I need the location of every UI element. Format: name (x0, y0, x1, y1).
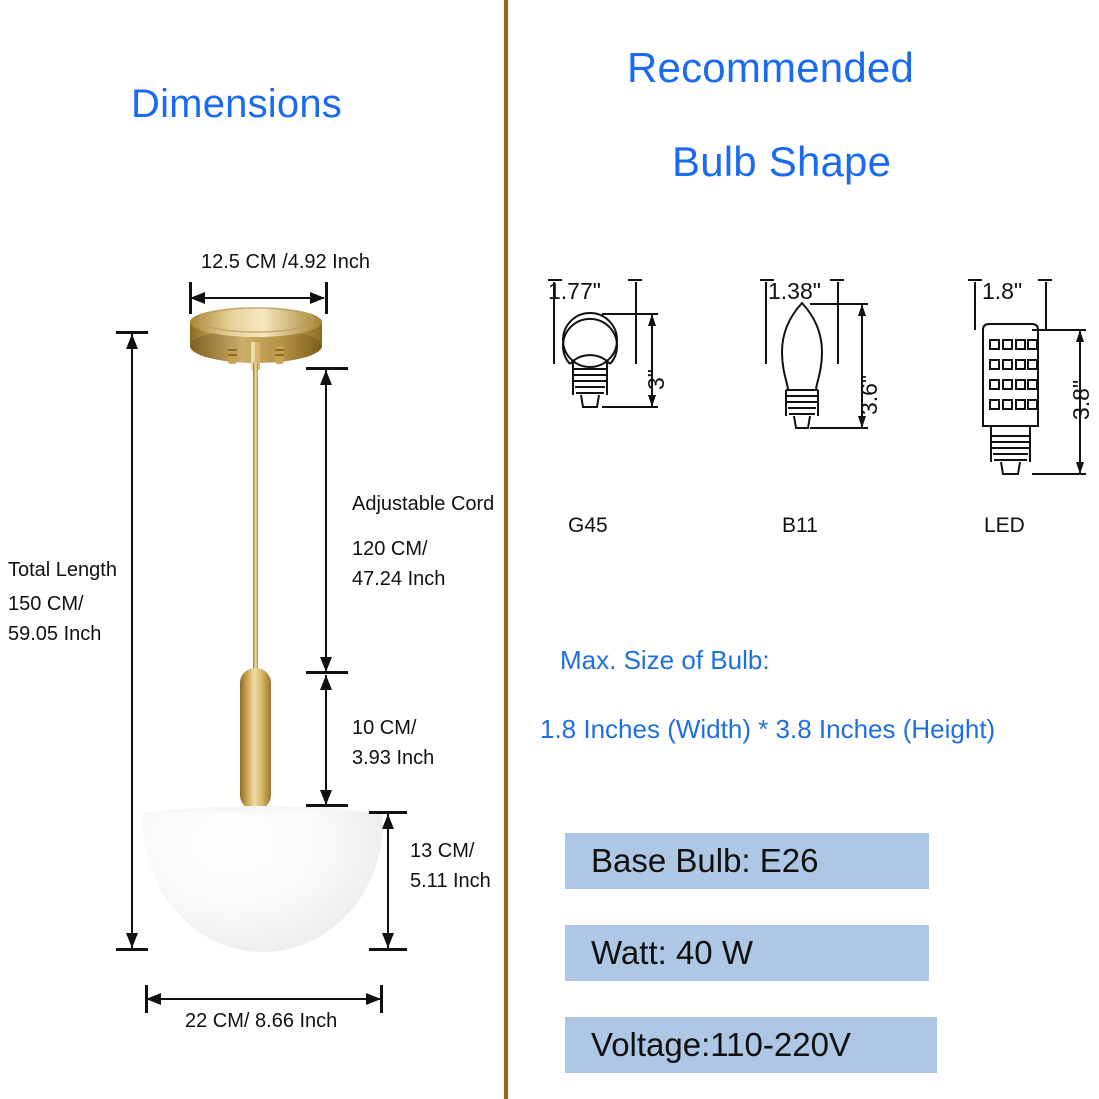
canopy-width-line (192, 297, 324, 299)
left-panel-title: Dimensions (131, 82, 342, 127)
spec-chip-voltage: Voltage:110-220V (565, 1017, 937, 1073)
led-width-label: 1.8" (982, 278, 1022, 305)
total-length-arrow-top (126, 334, 138, 349)
cord-socket-witness (306, 671, 348, 674)
g45-height-label: 3" (643, 369, 670, 390)
g45-name: G45 (568, 514, 608, 538)
shade-height-label-line2: 5.11 Inch (410, 871, 491, 891)
spec-chip-watt: Watt: 40 W (565, 925, 929, 981)
cord-label-line2: 120 CM/ (352, 539, 428, 559)
canopy-width-arrow-right (310, 292, 325, 304)
shade-width-label: 22 CM/ 8.66 Inch (185, 1011, 337, 1031)
b11-name: B11 (782, 514, 818, 538)
shade-height-arrow-bottom (382, 933, 394, 948)
right-panel-title-line1: Recommended (627, 44, 914, 92)
spec-base-bulb-text: Base Bulb: E26 (591, 842, 819, 880)
shade-width-line (148, 998, 380, 1000)
b11-height-label: 3.6" (856, 375, 883, 415)
max-size-value: 1.8 Inches (Width) * 3.8 Inches (Height) (540, 714, 995, 745)
cord-label-line1: Adjustable Cord (352, 494, 494, 514)
shade-width-arrow-right (366, 993, 381, 1005)
canopy-width-arrow-left (190, 292, 205, 304)
socket-arrow-top (320, 675, 332, 690)
shade-width-arrow-left (146, 993, 161, 1005)
cord-label-line3: 47.24 Inch (352, 569, 445, 589)
shade-height-label-line1: 13 CM/ (410, 841, 474, 861)
total-length-label-line2: 150 CM/ (8, 594, 84, 614)
panel-divider (504, 0, 508, 1099)
spec-voltage-text: Voltage:110-220V (591, 1026, 851, 1064)
socket-witness-bottom (306, 804, 348, 807)
shade-height-line (387, 814, 389, 950)
diagram-canvas: Dimensions 12.5 CM /4.92 Inch (0, 0, 1099, 1099)
led-height-label: 3.8" (1068, 380, 1095, 420)
socket-arrow-bottom (320, 790, 332, 805)
socket-housing (240, 668, 271, 810)
glass-shade (143, 812, 383, 952)
socket-dim-line (325, 675, 327, 805)
max-size-label: Max. Size of Bulb: (560, 645, 770, 676)
canopy-width-label: 12.5 CM /4.92 Inch (201, 252, 370, 272)
power-cord (253, 362, 258, 672)
shade-height-arrow-top (382, 814, 394, 829)
right-panel-title-line2: Bulb Shape (672, 138, 891, 186)
cord-arrow-top (320, 370, 332, 385)
socket-label-line2: 3.93 Inch (352, 748, 434, 768)
spec-watt-text: Watt: 40 W (591, 934, 753, 972)
led-name: LED (984, 514, 1025, 538)
b11-width-label: 1.38" (768, 278, 821, 305)
cord-dim-line (325, 370, 327, 672)
total-length-label-line1: Total Length (8, 560, 117, 580)
socket-label-line1: 10 CM/ (352, 718, 416, 738)
g45-width-label: 1.77" (548, 278, 601, 305)
spec-chip-base-bulb: Base Bulb: E26 (565, 833, 929, 889)
total-length-label-line3: 59.05 Inch (8, 624, 101, 644)
cord-arrow-bottom (320, 657, 332, 672)
total-length-arrow-bottom (126, 933, 138, 948)
total-length-line (131, 334, 133, 950)
